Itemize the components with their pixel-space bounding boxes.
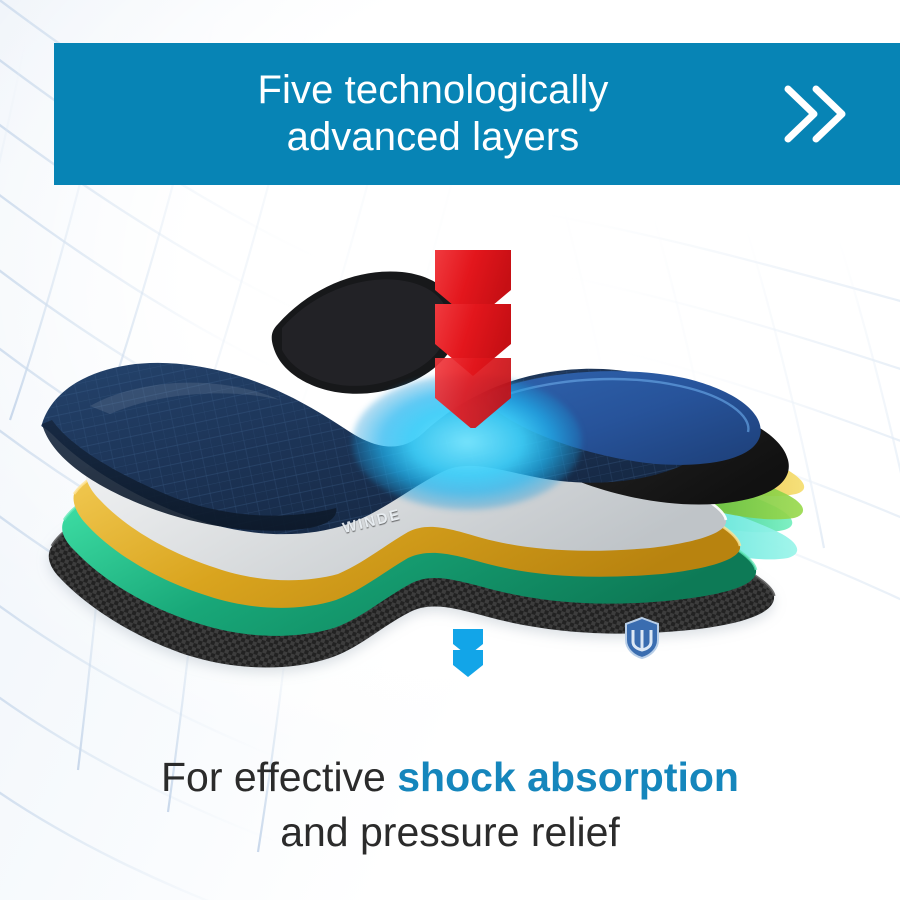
shield-logo-icon [622,616,662,660]
five-layer-insole-cutaway: WINDE [30,228,830,698]
caption-line-2: and pressure relief [0,805,900,860]
header-banner: Five technologically advanced layers [54,43,900,185]
caption-line-1-prefix: For effective [161,754,397,800]
double-chevron-down-icon [445,628,491,690]
banner-title: Five technologically advanced layers [54,67,786,161]
triple-chevron-down-icon [403,248,543,428]
caption-block: For effective shock absorption and press… [0,750,900,860]
double-chevron-right-icon[interactable] [780,83,900,145]
caption-highlight: shock absorption [397,754,739,800]
poster-canvas: Five technologically advanced layers [0,0,900,900]
caption-line-1: For effective shock absorption [0,750,900,805]
